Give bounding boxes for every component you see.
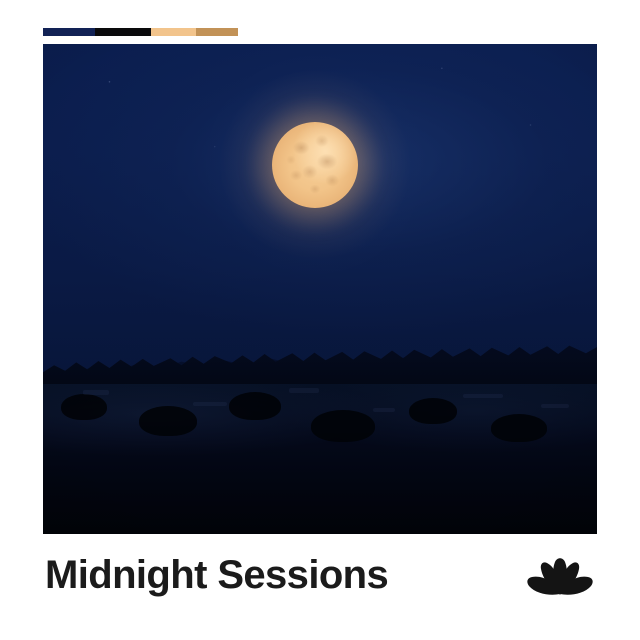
rock-highlight: [193, 402, 227, 406]
rock-highlight: [289, 388, 319, 393]
moon-maria: [272, 122, 358, 208]
lotus-logo: [524, 548, 596, 612]
shrub-silhouette: [61, 394, 107, 420]
foreground-hillside: [43, 384, 597, 534]
rock-highlight: [373, 408, 395, 412]
cover-photo: [43, 44, 597, 534]
swatch-navy: [43, 28, 95, 36]
shrub-silhouette: [311, 410, 375, 442]
shrub-silhouette: [409, 398, 457, 424]
shrub-silhouette: [229, 392, 281, 420]
swatch-dark-tan: [196, 28, 238, 36]
rock-highlight: [463, 394, 503, 398]
album-title: Midnight Sessions: [45, 551, 388, 599]
swatch-near-black: [95, 28, 151, 36]
album-cover: Midnight Sessions: [0, 0, 640, 640]
palette-swatch-bar: [43, 28, 238, 36]
shrub-silhouette: [139, 406, 197, 436]
rock-highlight: [83, 390, 109, 395]
full-moon: [272, 122, 358, 208]
shrub-silhouette: [491, 414, 547, 442]
swatch-light-tan: [151, 28, 196, 36]
rock-highlight: [541, 404, 569, 408]
